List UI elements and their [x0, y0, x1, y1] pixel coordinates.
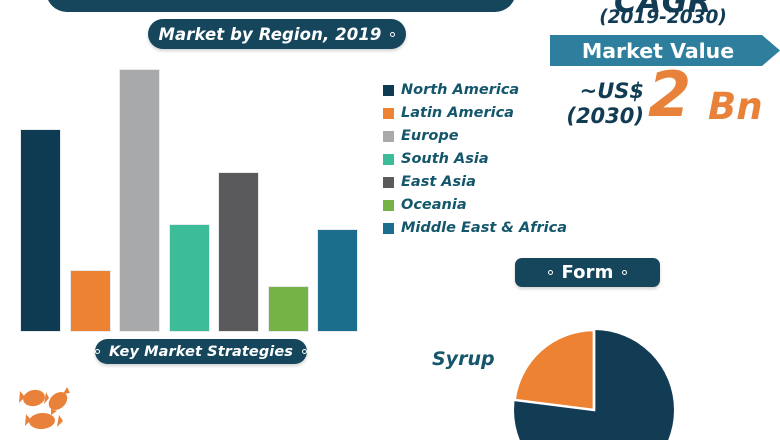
pie-label-syrup: Syrup: [432, 348, 495, 370]
legend-label: East Asia: [401, 174, 476, 190]
market-value-year: (2030): [548, 104, 644, 128]
legend-item-north-america: North America: [383, 80, 558, 101]
market-value-number: 2: [648, 64, 691, 126]
legend-item-east-asia: East Asia: [383, 172, 558, 193]
legend-label: Middle East & Africa: [401, 220, 567, 236]
bar-europe: [119, 69, 160, 332]
legend-label: North America: [401, 82, 519, 98]
market-value-unit: Bn: [708, 88, 763, 125]
top-clipped-banner: [46, 0, 516, 12]
bullet-dot-icon: [548, 270, 553, 275]
legend-label: Oceania: [401, 197, 467, 213]
legend-label: Latin America: [401, 105, 514, 121]
market-value-currency: ~US$: [548, 79, 644, 103]
legend-label: South Asia: [401, 151, 489, 167]
bullet-dot-icon: [622, 270, 627, 275]
cagr-years: (2019-2030): [546, 7, 780, 28]
form-pie-chart: [512, 328, 676, 440]
bullet-dot-icon: [95, 349, 100, 354]
key-market-strategies-banner: Key Market Strategies: [95, 339, 307, 364]
bar-middle-east-africa: [317, 229, 358, 332]
candy-icon: [13, 384, 75, 432]
market-by-region-label: Market by Region, 2019: [159, 25, 382, 44]
legend-swatch-icon: [383, 85, 394, 96]
key-market-strategies-label: Key Market Strategies: [109, 344, 293, 360]
infographic-canvas: Market by Region, 2019 North America Lat…: [0, 0, 780, 440]
bullet-dot-icon: [302, 349, 307, 354]
bar-latin-america: [70, 270, 111, 332]
legend-swatch-icon: [383, 177, 394, 188]
pie-slice-syrup: [515, 330, 594, 410]
form-label: Form: [562, 262, 614, 283]
legend-swatch-icon: [383, 131, 394, 142]
market-value-figure: ~US$ (2030) 2 Bn: [548, 76, 780, 138]
legend-label: Europe: [401, 128, 459, 144]
legend-item-middle-east-africa: Middle East & Africa: [383, 218, 558, 239]
bar-oceania: [268, 286, 309, 332]
region-legend: North America Latin America Europe South…: [383, 80, 558, 239]
legend-item-south-asia: South Asia: [383, 149, 558, 170]
legend-swatch-icon: [383, 108, 394, 119]
bar-north-america: [20, 129, 61, 332]
legend-swatch-icon: [383, 154, 394, 165]
bullet-dot-icon: [390, 32, 395, 37]
legend-swatch-icon: [383, 200, 394, 211]
legend-item-oceania: Oceania: [383, 195, 558, 216]
bar-east-asia: [218, 172, 259, 332]
legend-swatch-icon: [383, 223, 394, 234]
bar-south-asia: [169, 224, 210, 332]
form-banner: Form: [515, 258, 660, 287]
market-by-region-banner: Market by Region, 2019: [148, 19, 406, 49]
region-bar-chart: [0, 60, 375, 332]
legend-item-latin-america: Latin America: [383, 103, 558, 124]
legend-item-europe: Europe: [383, 126, 558, 147]
